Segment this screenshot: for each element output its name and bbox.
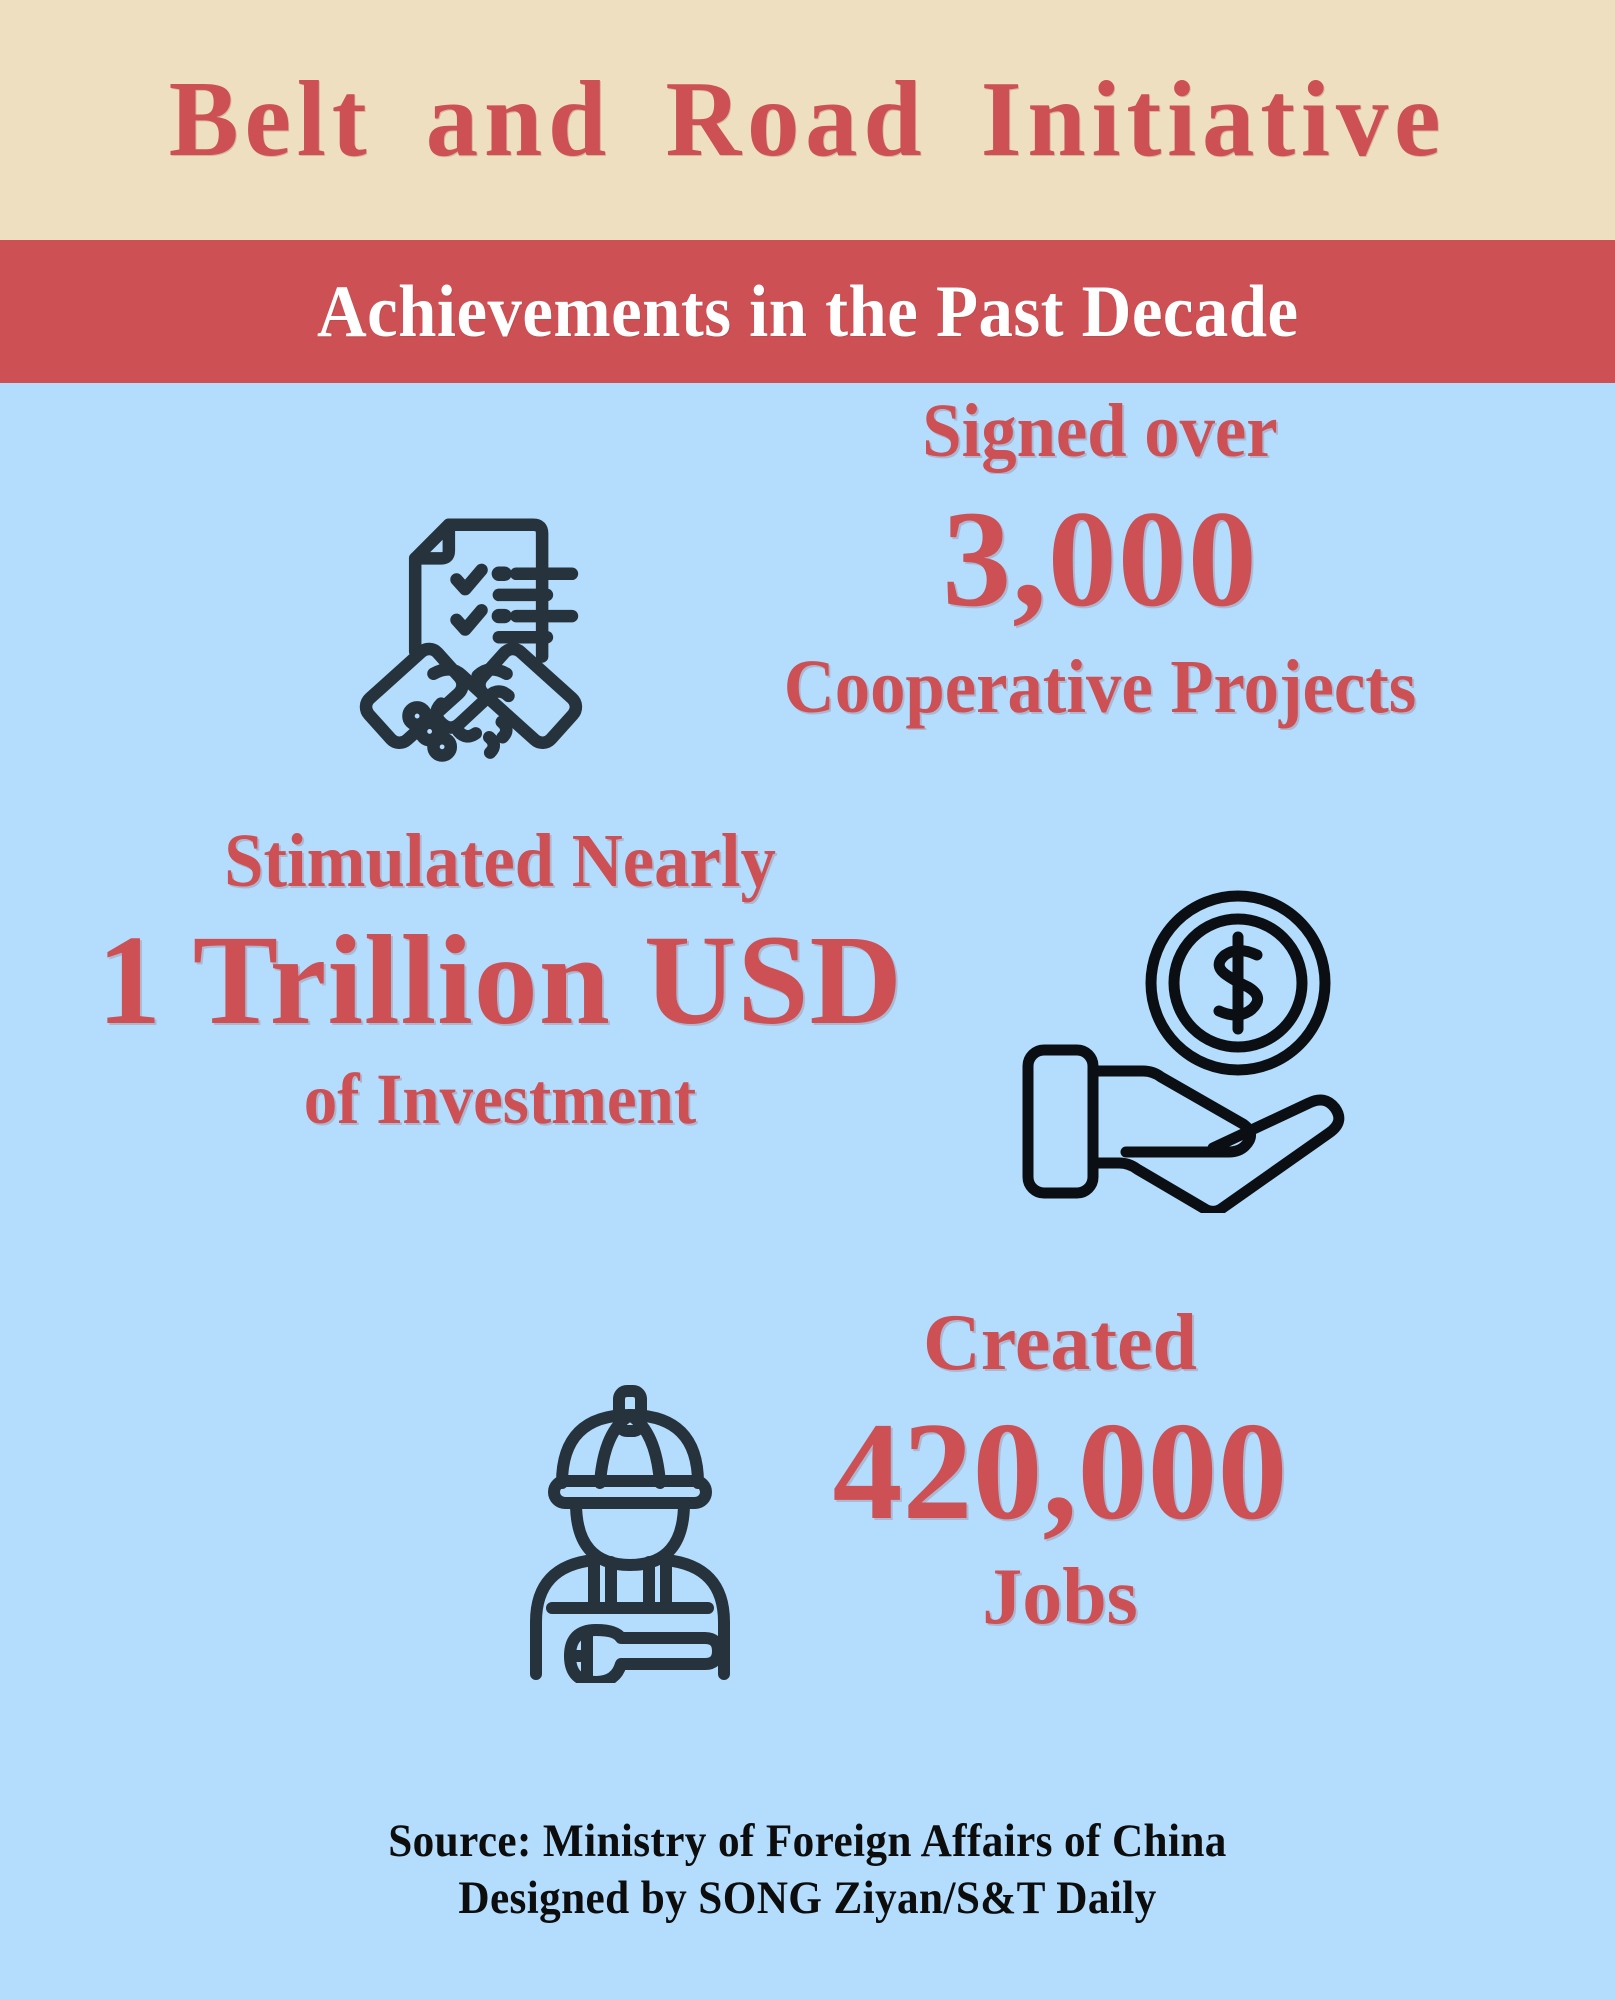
stat-value-jobs: 420,000 [740,1401,1380,1544]
stat-label-after-jobs: Jobs [740,1557,1380,1639]
subtitle-banner: Achievements in the Past Decade [0,240,1615,383]
hand-holding-dollar-coin-icon [995,873,1365,1213]
handshake-contract-icon [345,473,595,763]
stat-text-jobs: Created 420,000 Jobs [740,1303,1380,1639]
stat-block-investment: Stimulated Nearly 1 Trillion USD of Inve… [0,823,1615,1303]
stat-label-after-projects: Cooperative Projects [635,649,1565,727]
stat-text-projects: Signed over 3,000 Cooperative Projects [600,393,1600,727]
stat-value-investment: 1 Trillion USD [60,915,940,1046]
construction-worker-icon [500,1353,760,1683]
stat-block-jobs: Created 420,000 Jobs [0,1303,1615,1783]
page-title: Belt and Road Initiative [169,66,1447,174]
infographic-body: Signed over 3,000 Cooperative Projects S… [0,383,1615,2000]
stat-block-projects: Signed over 3,000 Cooperative Projects [0,383,1615,823]
footer-source: Source: Ministry of Foreign Affairs of C… [65,1813,1551,1870]
page-subtitle: Achievements in the Past Decade [317,275,1299,349]
stat-value-projects: 3,000 [600,489,1600,630]
stat-label-before-investment: Stimulated Nearly [91,823,909,901]
title-banner: Belt and Road Initiative [0,0,1615,240]
stat-label-after-investment: of Investment [91,1063,909,1136]
stat-label-before-jobs: Created [740,1303,1380,1385]
stat-label-before-projects: Signed over [635,393,1565,471]
stat-text-investment: Stimulated Nearly 1 Trillion USD of Inve… [60,823,940,1137]
footer-credit: Designed by SONG Ziyan/S&T Daily [65,1870,1551,1927]
footer-credits: Source: Ministry of Foreign Affairs of C… [0,1813,1615,1928]
